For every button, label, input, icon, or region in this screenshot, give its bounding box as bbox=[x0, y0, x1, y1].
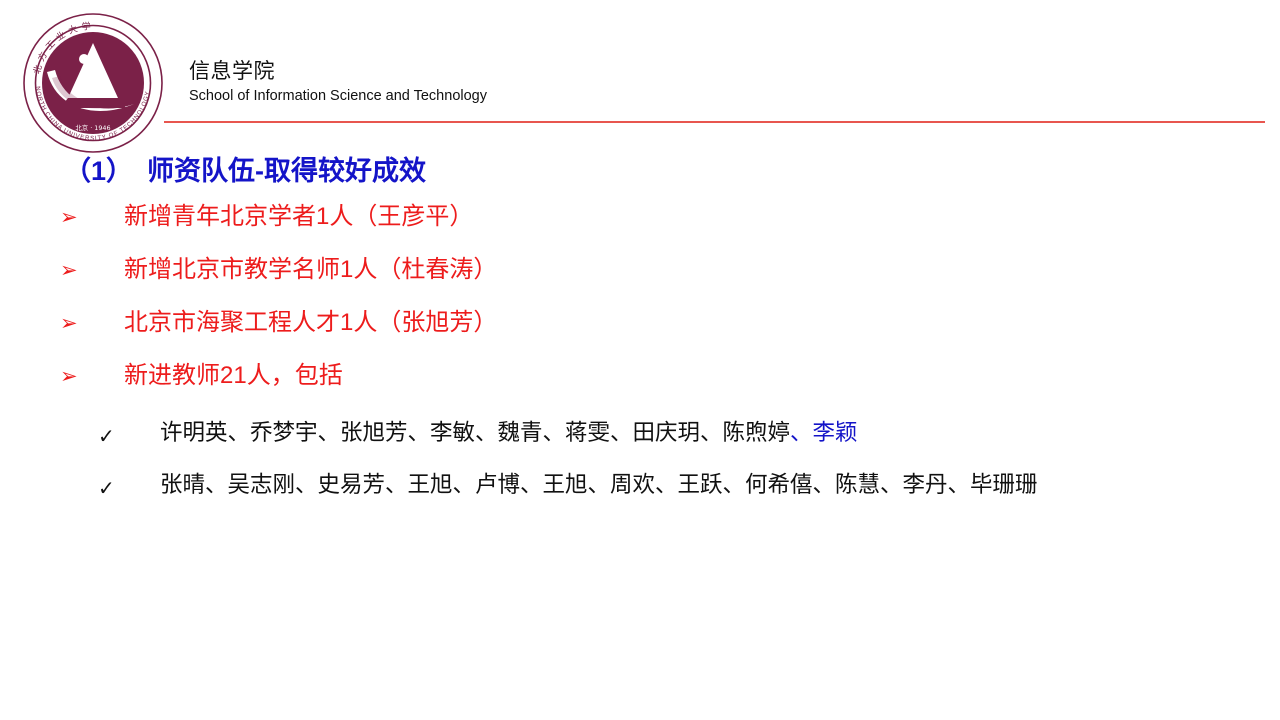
checkmark-list: ✓ 许明英、乔梦宇、张旭芳、李敏、魏青、蒋雯、田庆玥、陈煦婷、李颖 ✓ 张晴、吴… bbox=[0, 417, 1280, 521]
header-titles: 信息学院 School of Information Science and T… bbox=[189, 60, 487, 106]
arrow-bullet-icon: ➢ bbox=[60, 258, 78, 284]
header-divider-line bbox=[164, 121, 1265, 123]
list-item-label: 张晴、吴志刚、史易芳、王旭、卢博、王旭、周欢、王跃、何希僖、陈慧、李丹、毕珊珊 bbox=[160, 469, 1038, 501]
bullet-list: ➢ 新增青年北京学者1人（王彦平） ➢ 新增北京市教学名师1人（杜春涛） ➢ 北… bbox=[0, 200, 1280, 412]
faculty-names-plain: 张晴、吴志刚、史易芳、王旭、卢博、王旭、周欢、王跃、何希僖、陈慧、李丹、毕珊珊 bbox=[160, 472, 1038, 497]
header-title-chinese: 信息学院 bbox=[189, 60, 487, 84]
arrow-bullet-icon: ➢ bbox=[60, 364, 78, 390]
svg-text:北京 · 1946: 北京 · 1946 bbox=[75, 123, 110, 132]
list-item-label: 北京市海聚工程人才1人（张旭芳） bbox=[124, 306, 497, 340]
arrow-bullet-icon: ➢ bbox=[60, 311, 78, 337]
university-seal-logo: NORTH CHINA UNIVERSITY OF TECHNOLOGY 北方工… bbox=[22, 12, 164, 154]
list-item: ✓ 张晴、吴志刚、史易芳、王旭、卢博、王旭、周欢、王跃、何希僖、陈慧、李丹、毕珊… bbox=[0, 469, 1280, 521]
page-title-number: （1） bbox=[64, 156, 133, 186]
list-item-label: 许明英、乔梦宇、张旭芳、李敏、魏青、蒋雯、田庆玥、陈煦婷、李颖 bbox=[160, 417, 858, 449]
header-title-english: School of Information Science and Techno… bbox=[189, 86, 487, 106]
slide-canvas: NORTH CHINA UNIVERSITY OF TECHNOLOGY 北方工… bbox=[0, 0, 1280, 720]
list-item-label: 新增北京市教学名师1人（杜春涛） bbox=[124, 253, 497, 287]
page-title: （1）师资队伍-取得较好成效 bbox=[64, 149, 426, 188]
slide-header: NORTH CHINA UNIVERSITY OF TECHNOLOGY 北方工… bbox=[0, 0, 1280, 140]
list-item-label: 新增青年北京学者1人（王彦平） bbox=[124, 200, 473, 234]
list-item-label: 新进教师21人，包括 bbox=[124, 359, 343, 393]
checkmark-icon: ✓ bbox=[98, 475, 115, 501]
list-item: ➢ 北京市海聚工程人才1人（张旭芳） bbox=[0, 306, 1280, 359]
list-item: ➢ 新增青年北京学者1人（王彦平） bbox=[0, 200, 1280, 253]
faculty-names-plain: 许明英、乔梦宇、张旭芳、李敏、魏青、蒋雯、田庆玥、陈煦婷 bbox=[160, 420, 790, 445]
faculty-name-highlighted: 、李颖 bbox=[790, 420, 858, 445]
list-item: ✓ 许明英、乔梦宇、张旭芳、李敏、魏青、蒋雯、田庆玥、陈煦婷、李颖 bbox=[0, 417, 1280, 469]
page-title-text: 师资队伍-取得较好成效 bbox=[147, 156, 426, 186]
list-item: ➢ 新进教师21人，包括 bbox=[0, 359, 1280, 412]
checkmark-icon: ✓ bbox=[98, 423, 115, 449]
list-item: ➢ 新增北京市教学名师1人（杜春涛） bbox=[0, 253, 1280, 306]
arrow-bullet-icon: ➢ bbox=[60, 205, 78, 231]
